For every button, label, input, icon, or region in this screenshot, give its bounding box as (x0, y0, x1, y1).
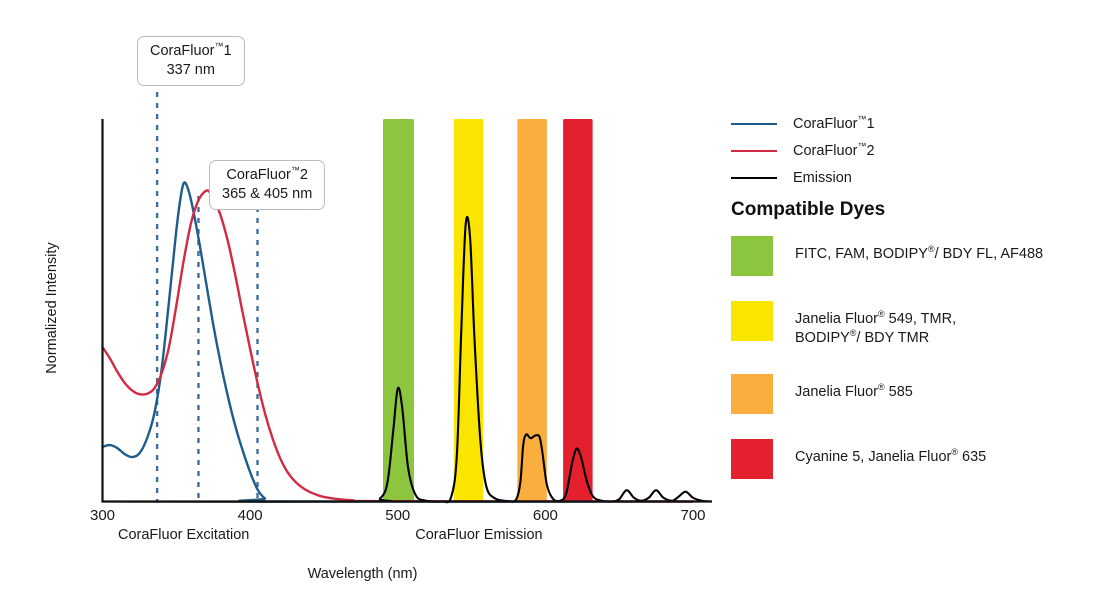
dye-row-1: FITC, FAM, BODIPY®/ BDY FL, AF488 (731, 236, 1106, 276)
dye-label: Janelia Fluor® 549, TMR,BODIPY®/ BDY TMR (795, 301, 956, 349)
corafluor1-callout: CoraFluor™1 337 nm (137, 36, 245, 86)
green-band (383, 119, 414, 502)
corafluor2-callout-line1: CoraFluor™2 (226, 167, 308, 183)
x-tick-300: 300 (90, 507, 115, 524)
compatible-dyes-list: FITC, FAM, BODIPY®/ BDY FL, AF488Janelia… (731, 236, 1106, 504)
chart-legend: CoraFluor™1CoraFluor™2Emission (731, 110, 1101, 191)
legend-line-swatch (731, 150, 777, 152)
dye-color-swatch (731, 374, 773, 414)
corafluor1-callout-line1: CoraFluor™1 (150, 43, 232, 59)
emission-band-group (383, 119, 593, 502)
x-tick-700: 700 (680, 507, 705, 524)
x-tick-600: 600 (533, 507, 558, 524)
corafluor2-callout-line2: 365 & 405 nm (222, 185, 312, 204)
legend-item-2: CoraFluor™2 (731, 137, 1101, 164)
legend-line-swatch (731, 123, 777, 125)
legend-line-swatch (731, 177, 777, 179)
red-band (563, 119, 593, 502)
dye-label: Janelia Fluor® 585 (795, 374, 913, 402)
dye-row-2: Janelia Fluor® 549, TMR,BODIPY®/ BDY TMR (731, 301, 1106, 349)
legend-label: CoraFluor™1 (793, 116, 875, 132)
compatible-dyes-title: Compatible Dyes (731, 199, 885, 221)
legend-label: Emission (793, 170, 852, 186)
x-tick-400: 400 (238, 507, 263, 524)
x-tick-500: 500 (385, 507, 410, 524)
region-label-corafluor-emission: CoraFluor Emission (415, 527, 542, 543)
orange-band (517, 119, 547, 502)
legend-label: CoraFluor™2 (793, 143, 875, 159)
y-axis-title: Normalized Intensity (44, 218, 60, 398)
dye-color-swatch (731, 439, 773, 479)
dye-label: FITC, FAM, BODIPY®/ BDY FL, AF488 (795, 236, 1043, 264)
corafluor2-callout: CoraFluor™2 365 & 405 nm (209, 160, 325, 210)
dye-row-4: Cyanine 5, Janelia Fluor® 635 (731, 439, 1106, 479)
dye-color-swatch (731, 236, 773, 276)
legend-item-1: CoraFluor™1 (731, 110, 1101, 137)
corafluor1-callout-line2: 337 nm (150, 61, 232, 80)
legend-item-3: Emission (731, 164, 1101, 191)
x-axis-title: Wavelength (nm) (0, 566, 725, 582)
region-label-corafluor-excitation: CoraFluor Excitation (118, 527, 249, 543)
dye-color-swatch (731, 301, 773, 341)
dye-label: Cyanine 5, Janelia Fluor® 635 (795, 439, 986, 467)
dye-row-3: Janelia Fluor® 585 (731, 374, 1106, 414)
